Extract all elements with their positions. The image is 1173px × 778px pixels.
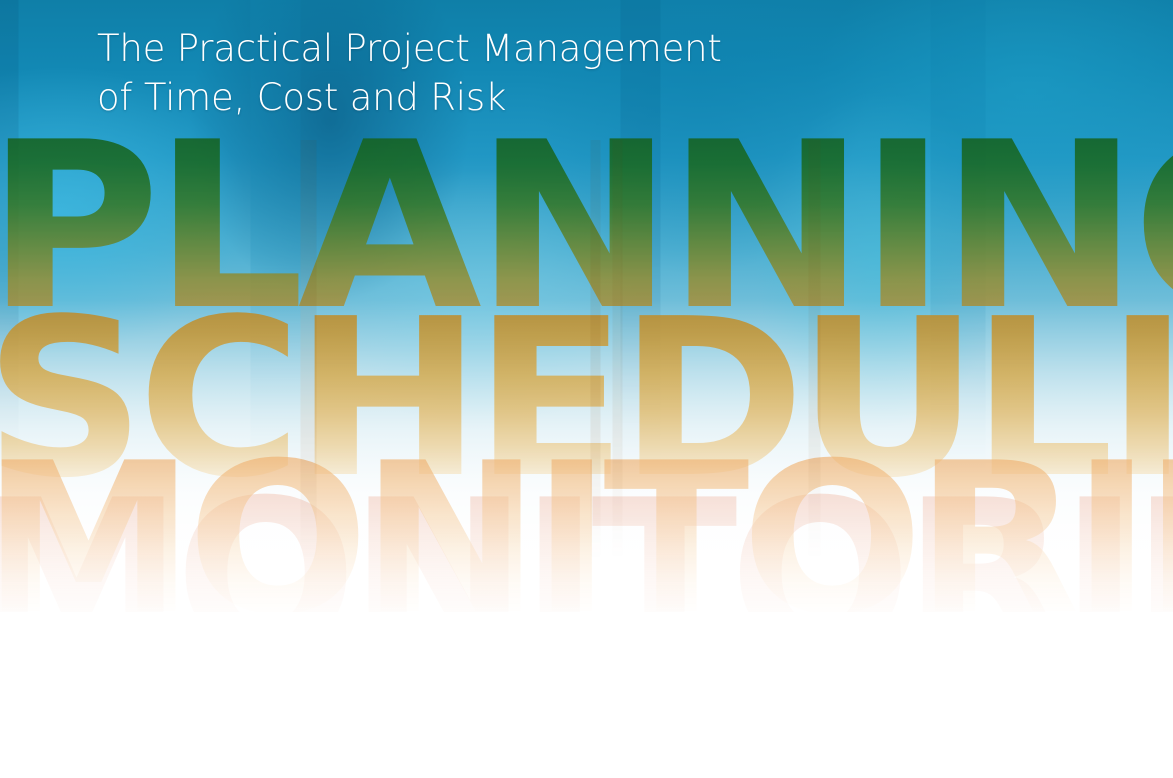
cover-subtitle-line-1: The Practical Project Management xyxy=(97,24,817,73)
cover-subtitle-line-2: of Time, Cost and Risk xyxy=(97,73,817,122)
book-cover: PLANNING SCHEDULING MONITORING MONITORIN… xyxy=(0,0,1173,778)
bottom-white-area xyxy=(0,612,1173,778)
cover-subtitle: The Practical Project Management of Time… xyxy=(97,24,817,122)
display-word-monitoring: MONITORING xyxy=(0,450,1173,630)
